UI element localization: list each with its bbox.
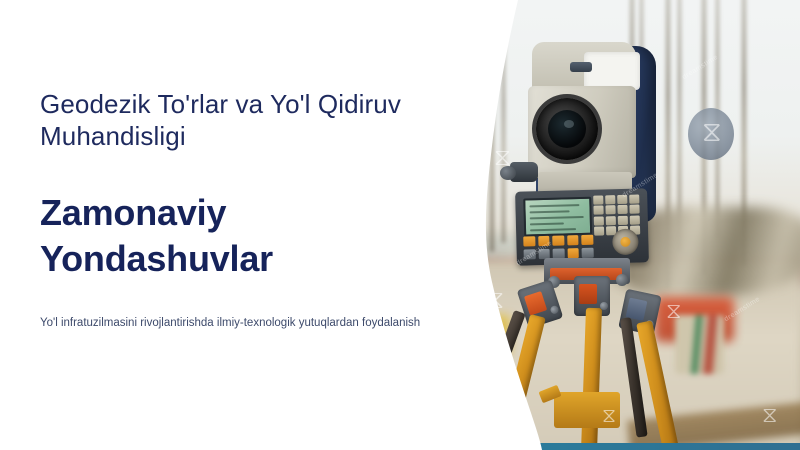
hero-photo: ⧖ ⧖ ⧖ ⧖ ⧖ ⧖ dreamstime dreamstime dreams… <box>470 0 800 450</box>
page-title: Zamonaviy Yondashuvlar <box>40 190 440 282</box>
instrument-control-panel <box>515 188 649 265</box>
objective-lens-icon <box>536 98 598 160</box>
tripod-platform <box>554 392 620 428</box>
lens-inner <box>548 110 586 148</box>
slide-eyebrow: Geodezik To'rlar va Yo'l Qidiruv Muhandi… <box>40 88 440 152</box>
instrument-carry-handle <box>570 62 592 72</box>
leveling-screw <box>616 274 628 286</box>
slide-subtitle: Yo'l infratuzilmasini rivojlantirishda i… <box>40 314 430 333</box>
instrument-lcd-screen <box>523 197 592 237</box>
instrument-navigation-pad <box>612 229 639 256</box>
rebar-rod <box>490 18 494 252</box>
tangent-screw-knob <box>500 166 516 180</box>
slide-text-block: Geodezik To'rlar va Yo'l Qidiruv Muhandi… <box>40 0 470 450</box>
total-station <box>498 40 708 290</box>
accent-strip <box>530 443 800 450</box>
instrument-head-window <box>584 52 640 90</box>
instrument-keypad <box>593 194 640 235</box>
presentation-slide: ⧖ ⧖ ⧖ ⧖ ⧖ ⧖ dreamstime dreamstime dreams… <box>0 0 800 450</box>
background-striped-bag <box>675 315 725 374</box>
instrument-function-keys <box>523 235 593 247</box>
photo-background: ⧖ ⧖ ⧖ ⧖ ⧖ ⧖ dreamstime dreamstime dreams… <box>470 0 800 450</box>
lens-glint <box>564 120 574 128</box>
instrument-side-cap <box>688 108 734 160</box>
